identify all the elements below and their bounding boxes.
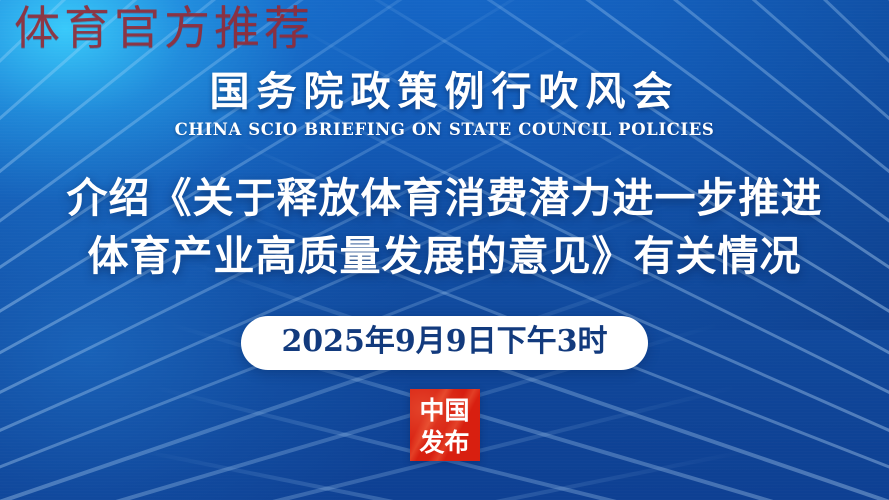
poster-content: 国务院政策例行吹风会 CHINA SCIO BRIEFING ON STATE … <box>0 0 889 500</box>
date-badge-text: 2025年9月9日下午3时 <box>281 324 607 359</box>
briefing-title-english: CHINA SCIO BRIEFING ON STATE COUNCIL POL… <box>175 120 715 139</box>
china-release-logo: 中国 发布 <box>410 389 480 461</box>
logo-line-2: 发布 <box>410 423 480 455</box>
headline-line-2: 体育产业高质量发展的意见》有关情况 <box>67 227 823 285</box>
poster-header: 国务院政策例行吹风会 CHINA SCIO BRIEFING ON STATE … <box>175 70 715 139</box>
headline: 介绍《关于释放体育消费潜力进一步推进 体育产业高质量发展的意见》有关情况 <box>67 169 823 285</box>
headline-line-1: 介绍《关于释放体育消费潜力进一步推进 <box>67 169 823 227</box>
briefing-title-chinese: 国务院政策例行吹风会 <box>175 70 715 113</box>
date-badge: 2025年9月9日下午3时 <box>241 316 647 371</box>
briefing-poster: 体育官方推荐 国务院政策例行吹风会 CHINA SCIO BRIEFING ON… <box>0 0 889 500</box>
logo-line-1: 中国 <box>410 389 480 423</box>
